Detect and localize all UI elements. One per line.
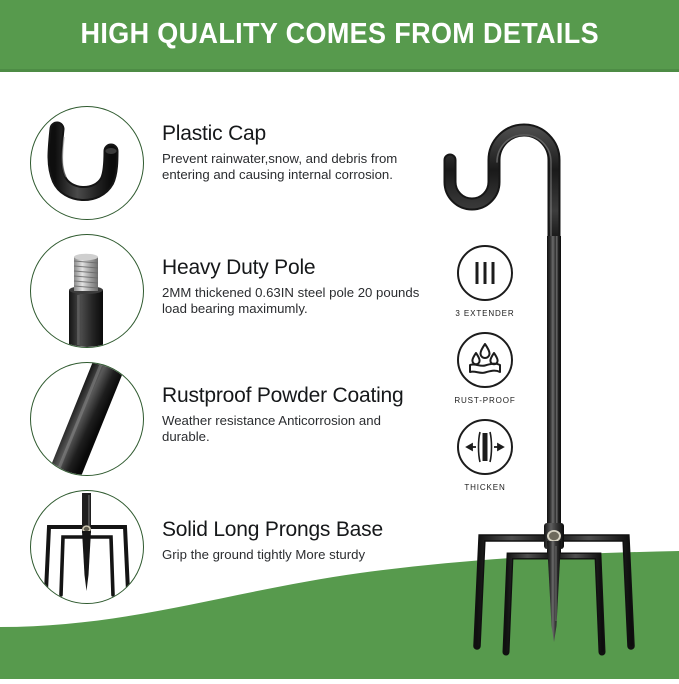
feature-title: Heavy Duty Pole	[162, 256, 430, 280]
feature-title: Plastic Cap	[162, 122, 430, 146]
badge-rust-proof: RUST-PROOF	[452, 332, 518, 405]
feature-description: Prevent rainwater,snow, and debris from …	[162, 151, 430, 184]
five-prong-base	[477, 538, 631, 652]
badge-thicken: THICKEN	[452, 419, 518, 492]
feature-item-rustproof-coating: Rustproof Powder Coating Weather resista…	[30, 362, 430, 476]
collar-knob	[544, 523, 564, 549]
feature-item-heavy-duty-pole: Heavy Duty Pole 2MM thickened 0.63IN ste…	[30, 234, 430, 348]
badge-label: RUST-PROOF	[453, 395, 516, 405]
thickness-arrows-icon	[457, 419, 513, 475]
prongs-base-icon	[30, 490, 144, 604]
feature-description: Weather resistance Anticorrosion and dur…	[162, 413, 430, 446]
badge-3-extender: 3 EXTENDER	[452, 245, 518, 318]
s-hook-top	[450, 130, 554, 246]
water-drops-icon	[457, 332, 513, 388]
feature-description: Grip the ground tightly More sturdy	[162, 547, 383, 563]
powder-coated-tube-icon	[30, 362, 144, 476]
feature-text: Solid Long Prongs Base Grip the ground t…	[162, 490, 383, 563]
feature-item-plastic-cap: Plastic Cap Prevent rainwater,snow, and …	[30, 106, 430, 220]
plastic-cap-hook-icon	[30, 106, 144, 220]
steel-pole	[547, 236, 561, 554]
badge-label: THICKEN	[453, 482, 516, 492]
center-spike	[547, 541, 561, 642]
three-bars-icon	[457, 245, 513, 301]
header-banner: HIGH QUALITY COMES FROM DETAILS	[0, 0, 679, 72]
badge-label: 3 EXTENDER	[453, 308, 516, 318]
feature-description: 2MM thickened 0.63IN steel pole 20 pound…	[162, 285, 430, 318]
feature-title: Solid Long Prongs Base	[162, 518, 383, 542]
feature-text: Heavy Duty Pole 2MM thickened 0.63IN ste…	[162, 234, 430, 317]
feature-text: Rustproof Powder Coating Weather resista…	[162, 362, 430, 445]
badge-list: 3 EXTENDER RUST-PROOF	[452, 245, 518, 506]
feature-item-prongs-base: Solid Long Prongs Base Grip the ground t…	[30, 490, 383, 604]
feature-title: Rustproof Powder Coating	[162, 384, 430, 408]
threaded-pole-icon	[30, 234, 144, 348]
feature-text: Plastic Cap Prevent rainwater,snow, and …	[162, 106, 430, 183]
page-title: HIGH QUALITY COMES FROM DETAILS	[80, 18, 598, 51]
